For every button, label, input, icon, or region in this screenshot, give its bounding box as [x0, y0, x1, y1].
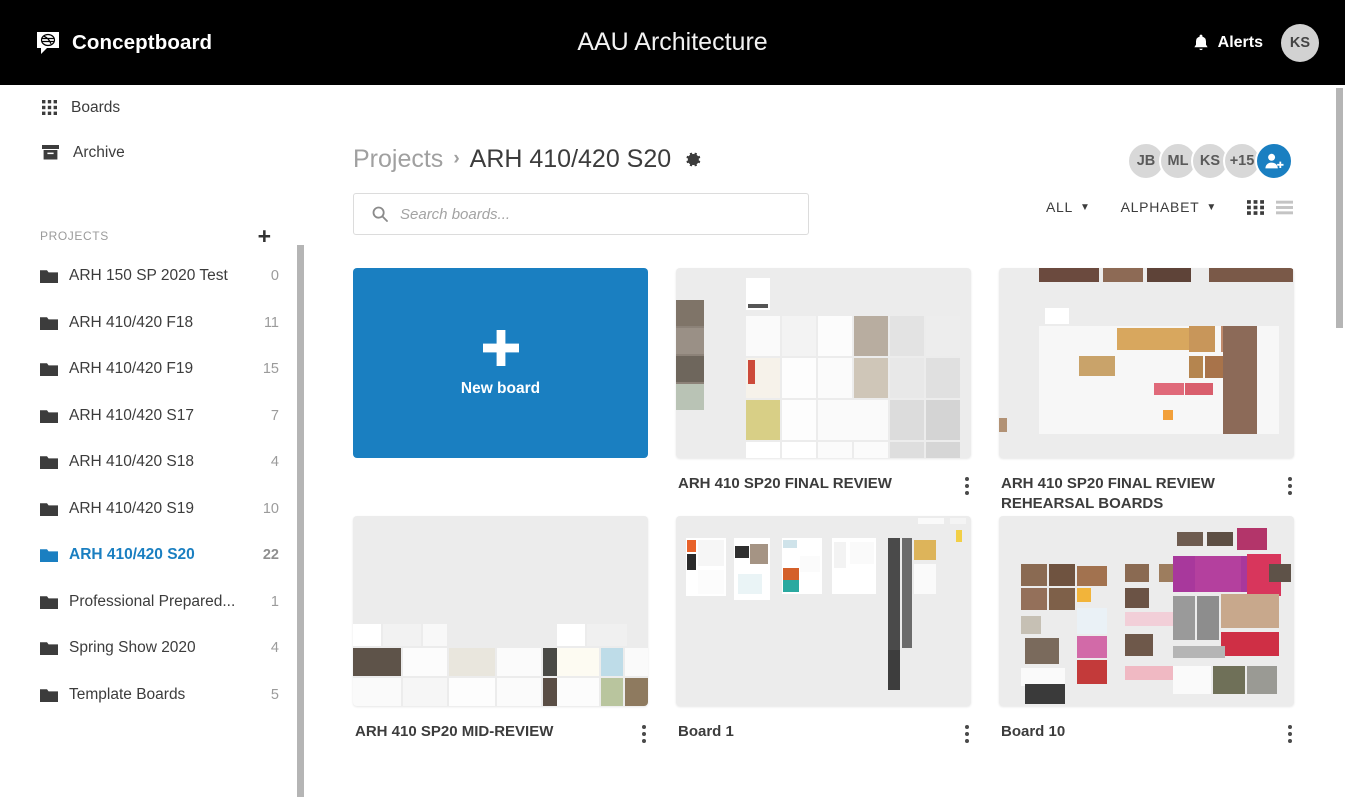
sidebar-project-item[interactable]: Spring Show 20204: [0, 625, 305, 672]
chevron-down-icon: ▼: [1206, 202, 1217, 213]
sidebar-project-item[interactable]: ARH 150 SP 2020 Test0: [0, 253, 305, 300]
board-footer: ARH 410 SP20 FINAL REVIEW: [676, 458, 971, 516]
new-board-button[interactable]: New board: [353, 268, 648, 458]
folder-icon: [40, 548, 58, 562]
alerts-label: Alerts: [1218, 34, 1263, 52]
breadcrumb-separator: ›: [453, 148, 459, 170]
folder-icon: [40, 641, 58, 655]
sidebar-project-count: 4: [271, 640, 279, 656]
list-view-icon[interactable]: [1276, 200, 1293, 215]
boards-grid: New board 5: [353, 268, 1345, 764]
sidebar-project-count: 1: [271, 594, 279, 610]
board-title[interactable]: Board 1: [678, 722, 734, 742]
folder-icon: [40, 455, 58, 469]
gear-icon[interactable]: [683, 150, 702, 169]
sidebar-project-item[interactable]: ARH 410/420 S184: [0, 439, 305, 486]
board-cell: Board 1: [676, 516, 971, 764]
board-title[interactable]: Board 10: [1001, 722, 1065, 742]
board-title[interactable]: ARH 410 SP20 FINAL REVIEW REHEARSAL BOAR…: [1001, 474, 1251, 515]
folder-icon: [40, 269, 58, 283]
main-content: Projects › ARH 410/420 S20 JB ML KS +15: [305, 85, 1345, 797]
sidebar-item-label: Boards: [71, 99, 120, 117]
alerts-button[interactable]: Alerts: [1193, 34, 1263, 52]
filter-label: ALL: [1046, 199, 1073, 215]
new-board-label: New board: [461, 380, 540, 398]
breadcrumb-projects-link[interactable]: Projects: [353, 145, 443, 174]
sort-dropdown[interactable]: ALPHABET ▼: [1121, 199, 1217, 215]
brand[interactable]: Conceptboard: [35, 30, 212, 56]
more-vertical-icon[interactable]: [965, 725, 969, 743]
sidebar-project-label: ARH 410/420 F18: [69, 314, 256, 332]
sidebar-project-label: Spring Show 2020: [69, 639, 263, 657]
sidebar-project-item[interactable]: Professional Prepared...1: [0, 579, 305, 626]
search-icon: [372, 206, 388, 222]
bell-icon: [1193, 34, 1209, 52]
sidebar-project-label: ARH 410/420 S20: [69, 546, 255, 564]
sidebar-project-label: ARH 410/420 S19: [69, 500, 255, 518]
board-thumbnail[interactable]: 5: [676, 268, 971, 458]
sidebar-project-item[interactable]: ARH 410/420 F1811: [0, 300, 305, 347]
more-vertical-icon[interactable]: [1288, 725, 1292, 743]
sidebar-item-label: Archive: [73, 144, 125, 162]
more-vertical-icon[interactable]: [965, 477, 969, 495]
sort-label: ALPHABET: [1121, 199, 1200, 215]
projects-section-header: PROJECTS +: [0, 219, 305, 253]
projects-header-label: PROJECTS: [40, 229, 109, 243]
folder-icon: [40, 502, 58, 516]
sidebar-project-count: 0: [271, 268, 279, 284]
board-cell: 6 3: [353, 516, 648, 764]
folder-icon: [40, 409, 58, 423]
more-vertical-icon[interactable]: [642, 725, 646, 743]
folder-icon: [40, 316, 58, 330]
sidebar-project-count: 7: [271, 408, 279, 424]
board-title[interactable]: ARH 410 SP20 MID-REVIEW: [355, 722, 553, 742]
sidebar-project-count: 10: [263, 501, 279, 517]
plus-icon: [481, 328, 521, 368]
search-input[interactable]: [400, 206, 770, 223]
folder-icon: [40, 688, 58, 702]
board-thumbnail[interactable]: 6 3: [353, 516, 648, 706]
archive-box-icon: [42, 145, 59, 160]
top-bar-right: Alerts KS: [1193, 0, 1319, 85]
add-member-button[interactable]: [1255, 142, 1293, 180]
sidebar-project-count: 22: [263, 547, 279, 563]
sidebar-scrollbar[interactable]: [297, 245, 304, 797]
board-thumbnail[interactable]: [999, 516, 1294, 706]
board-footer: Board 1: [676, 706, 971, 764]
breadcrumb-current: ARH 410/420 S20: [470, 145, 672, 174]
board-thumbnail[interactable]: [999, 268, 1294, 458]
more-vertical-icon[interactable]: [1288, 477, 1292, 495]
grid-view-icon[interactable]: [1247, 200, 1264, 215]
folder-icon: [40, 362, 58, 376]
boards-toolbar: ALL ▼ ALPHABET ▼: [353, 193, 1345, 235]
view-controls: ALL ▼ ALPHABET ▼: [1046, 199, 1293, 215]
board-thumbnail[interactable]: [676, 516, 971, 706]
board-cell: ARH 410 SP20 FINAL REVIEW REHEARSAL BOAR…: [999, 268, 1294, 516]
board-footer: Board 10: [999, 706, 1294, 764]
folder-icon: [40, 595, 58, 609]
board-cell: Board 10: [999, 516, 1294, 764]
user-avatar[interactable]: KS: [1281, 24, 1319, 62]
sidebar-project-count: 11: [264, 315, 279, 331]
sidebar-project-item[interactable]: ARH 410/420 F1915: [0, 346, 305, 393]
top-bar: Conceptboard AAU Architecture Alerts KS: [0, 0, 1345, 85]
sidebar-project-item[interactable]: ARH 410/420 S1910: [0, 486, 305, 533]
sidebar-project-item[interactable]: ARH 410/420 S177: [0, 393, 305, 440]
sidebar-item-archive[interactable]: Archive: [0, 130, 305, 175]
sidebar-project-count: 15: [263, 361, 279, 377]
sidebar-project-label: ARH 410/420 S18: [69, 453, 263, 471]
sidebar-project-label: Template Boards: [69, 686, 263, 704]
view-toggle: [1247, 200, 1293, 215]
brand-name: Conceptboard: [72, 31, 212, 55]
sidebar-project-label: ARH 410/420 S17: [69, 407, 263, 425]
board-title[interactable]: ARH 410 SP20 FINAL REVIEW: [678, 474, 892, 494]
main-scrollbar[interactable]: [1336, 88, 1343, 328]
sidebar-project-label: Professional Prepared...: [69, 593, 263, 611]
board-footer: ARH 410 SP20 FINAL REVIEW REHEARSAL BOAR…: [999, 458, 1294, 516]
project-list: ARH 150 SP 2020 Test0ARH 410/420 F1811AR…: [0, 253, 305, 718]
new-board-cell: New board: [353, 268, 648, 516]
conceptboard-speech-bubble-logo: [35, 30, 61, 56]
sidebar-project-item[interactable]: Template Boards5: [0, 672, 305, 719]
sidebar-project-item[interactable]: ARH 410/420 S2022: [0, 532, 305, 579]
member-avatars: JB ML KS +15: [1127, 142, 1293, 180]
search-box[interactable]: [353, 193, 809, 235]
filter-dropdown[interactable]: ALL ▼: [1046, 199, 1091, 215]
board-cell: 5: [676, 268, 971, 516]
board-footer: ARH 410 SP20 MID-REVIEW: [353, 706, 648, 764]
sidebar-item-boards[interactable]: Boards: [0, 85, 305, 130]
add-user-icon: [1264, 152, 1284, 170]
sidebar-project-label: ARH 410/420 F19: [69, 360, 255, 378]
grid-icon: [42, 100, 57, 115]
sidebar-project-label: ARH 150 SP 2020 Test: [69, 267, 263, 285]
sidebar-project-count: 5: [271, 687, 279, 703]
sidebar-project-count: 4: [271, 454, 279, 470]
add-project-button[interactable]: +: [258, 225, 271, 248]
chevron-down-icon: ▼: [1080, 202, 1091, 213]
sidebar: Boards Archive PROJECTS + ARH 150 SP 202…: [0, 85, 305, 797]
